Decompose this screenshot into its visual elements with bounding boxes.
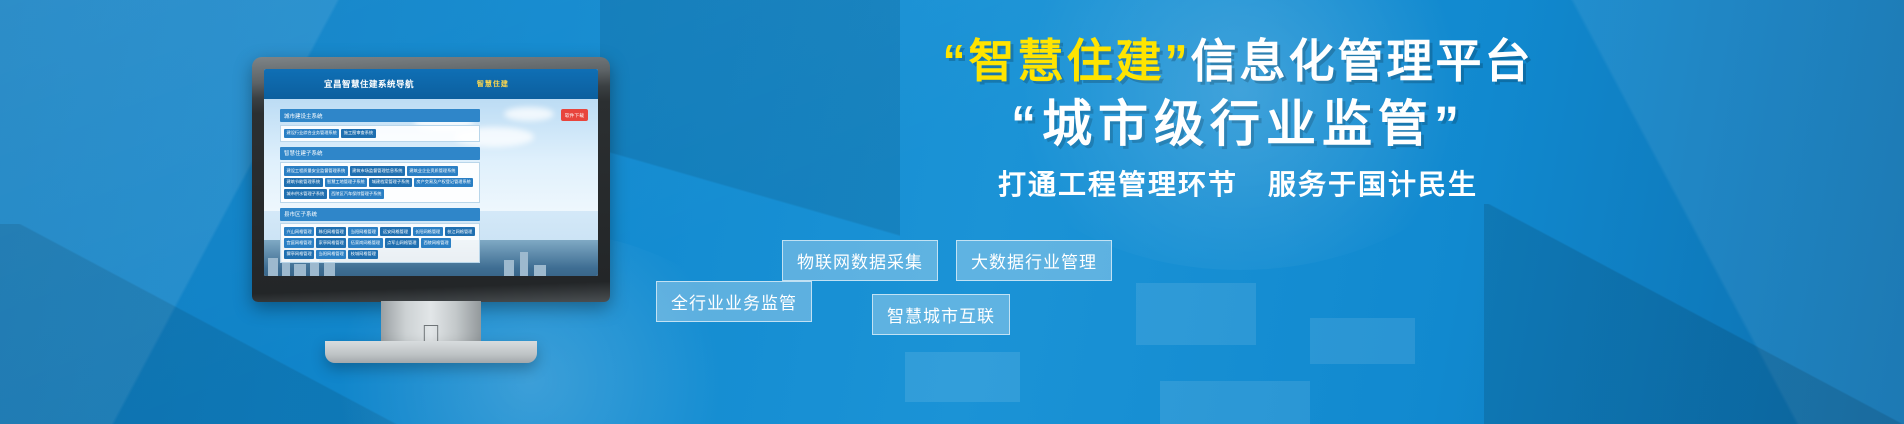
system-group: 县市区子系统兴山网格管理秭归网格管理当阳网格管理远安网格管理长阳网格管理枝江网格… [280, 208, 480, 264]
system-module-button[interactable]: 秭归网格管理 [316, 227, 346, 236]
headline-block: “智慧住建”信息化管理平台 “城市级行业监管” 打通工程管理环节 服务于国计民生 [648, 34, 1828, 204]
headline-line-2: “城市级行业监管” [648, 92, 1828, 157]
system-nav-panel: 城市建设主系统建设行业综合业务管理系统施工图审查系统智慧住建子系统建设工程质量安… [280, 109, 480, 268]
tag-pill-bigdata-industry-management[interactable]: 大数据行业管理 [956, 240, 1112, 281]
system-module-button[interactable]: 建筑业企业资质管理系统 [407, 166, 458, 175]
headline-line-1: “智慧住建”信息化管理平台 [648, 34, 1828, 88]
system-group-buttons: 兴山网格管理秭归网格管理当阳网格管理远安网格管理长阳网格管理枝江网格管理宫庭网格… [280, 223, 480, 263]
monitor-bezel: 宜昌智慧住建系统导航 智慧住建 WISDOM OF CITY CONSTRUCT… [252, 57, 610, 302]
system-module-button[interactable]: 当阳网格管理 [348, 227, 378, 236]
screen-title: 宜昌智慧住建系统导航 [324, 78, 414, 90]
system-module-button[interactable]: 建设行业综合业务管理系统 [284, 129, 339, 138]
system-module-button[interactable]: 长阳网格管理 [413, 227, 443, 236]
system-module-button[interactable]: 枝江网格管理 [445, 227, 475, 236]
tag-pill-smart-city-interconnection[interactable]: 智慧城市互联 [872, 294, 1010, 335]
background-block-4 [1160, 381, 1310, 424]
system-module-button[interactable]: 西陵区汽车保除管理子系统 [329, 189, 384, 198]
monitor-screen: 宜昌智慧住建系统导航 智慧住建 WISDOM OF CITY CONSTRUCT… [264, 69, 598, 276]
headline-line-3: 打通工程管理环节 服务于国计民生 [648, 167, 1828, 203]
system-group: 智慧住建子系统建设工程质量安全监督管理系统建筑市场监督管理信息系统建筑业企业资质… [280, 147, 480, 203]
imac-mockup: 宜昌智慧住建系统导航 智慧住建 WISDOM OF CITY CONSTRUCT… [252, 57, 610, 302]
system-module-button[interactable]: 宫庭网格管理 [284, 238, 314, 247]
screen-logo-line1: 智慧住建 [477, 81, 509, 88]
system-module-button[interactable]: 建筑市场监督管理信息系统 [350, 166, 405, 175]
system-module-button[interactable]: 城市供水管理子系统 [284, 189, 327, 198]
system-module-button[interactable]: 西陵网格管理 [421, 238, 451, 247]
system-group-buttons: 建设行业综合业务管理系统施工图审查系统 [280, 125, 480, 142]
system-module-button[interactable]: 家亭网格管理 [316, 238, 346, 247]
background-block-1 [1136, 283, 1256, 345]
system-module-button[interactable]: 枝城网格管理 [348, 250, 378, 259]
system-module-button[interactable]: 点军山网格管理 [385, 238, 419, 247]
promo-banner: 宜昌智慧住建系统导航 智慧住建 WISDOM OF CITY CONSTRUCT… [0, 0, 1904, 424]
system-module-button[interactable]: 施工图审查系统 [341, 129, 375, 138]
system-group-title: 智慧住建子系统 [280, 147, 480, 160]
background-block-3 [1310, 318, 1415, 364]
tag-pill-all-industry-supervision[interactable]: 全行业业务监管 [656, 281, 812, 322]
system-module-button[interactable]: 房产交易及产权登记管理系统 [414, 178, 473, 187]
screen-titlebar: 宜昌智慧住建系统导航 智慧住建 WISDOM OF CITY CONSTRUCT… [264, 69, 598, 99]
system-module-button[interactable]: 建筑节能管理系统 [284, 178, 323, 187]
monitor-base [325, 341, 537, 363]
system-module-button[interactable]: 城建档案管理子系统 [369, 178, 412, 187]
software-download-badge[interactable]: 软件下载 [561, 109, 588, 121]
headline-line-1-rest: 信息化管理平台 [1191, 35, 1534, 87]
system-module-button[interactable]: 当阳网格管理 [316, 250, 346, 259]
system-group: 城市建设主系统建设行业综合业务管理系统施工图审查系统 [280, 109, 480, 142]
system-module-button[interactable]: 智慧工地管理子系统 [325, 178, 368, 187]
system-group-title: 城市建设主系统 [280, 109, 480, 122]
system-module-button[interactable]: 伍家岗网格管理 [348, 238, 382, 247]
system-group-title: 县市区子系统 [280, 208, 480, 221]
system-module-button[interactable]: 猬亭网格管理 [284, 250, 314, 259]
system-module-button[interactable]: 兴山网格管理 [284, 227, 314, 236]
screen-body: 软件下载 城市建设主系统建设行业综合业务管理系统施工图审查系统智慧住建子系统建设… [264, 99, 598, 276]
system-module-button[interactable]: 远安网格管理 [380, 227, 410, 236]
background-facet-bottom-right [1484, 204, 1904, 424]
background-block-2 [905, 352, 1020, 402]
headline-line-1-highlight: “智慧住建” [943, 35, 1191, 87]
system-group-buttons: 建设工程质量安全监督管理系统建筑市场监督管理信息系统建筑业企业资质管理系统建筑节… [280, 162, 480, 202]
tag-pill-iot-data-collection[interactable]: 物联网数据采集 [782, 240, 938, 281]
system-module-button[interactable]: 建设工程质量安全监督管理系统 [284, 166, 348, 175]
